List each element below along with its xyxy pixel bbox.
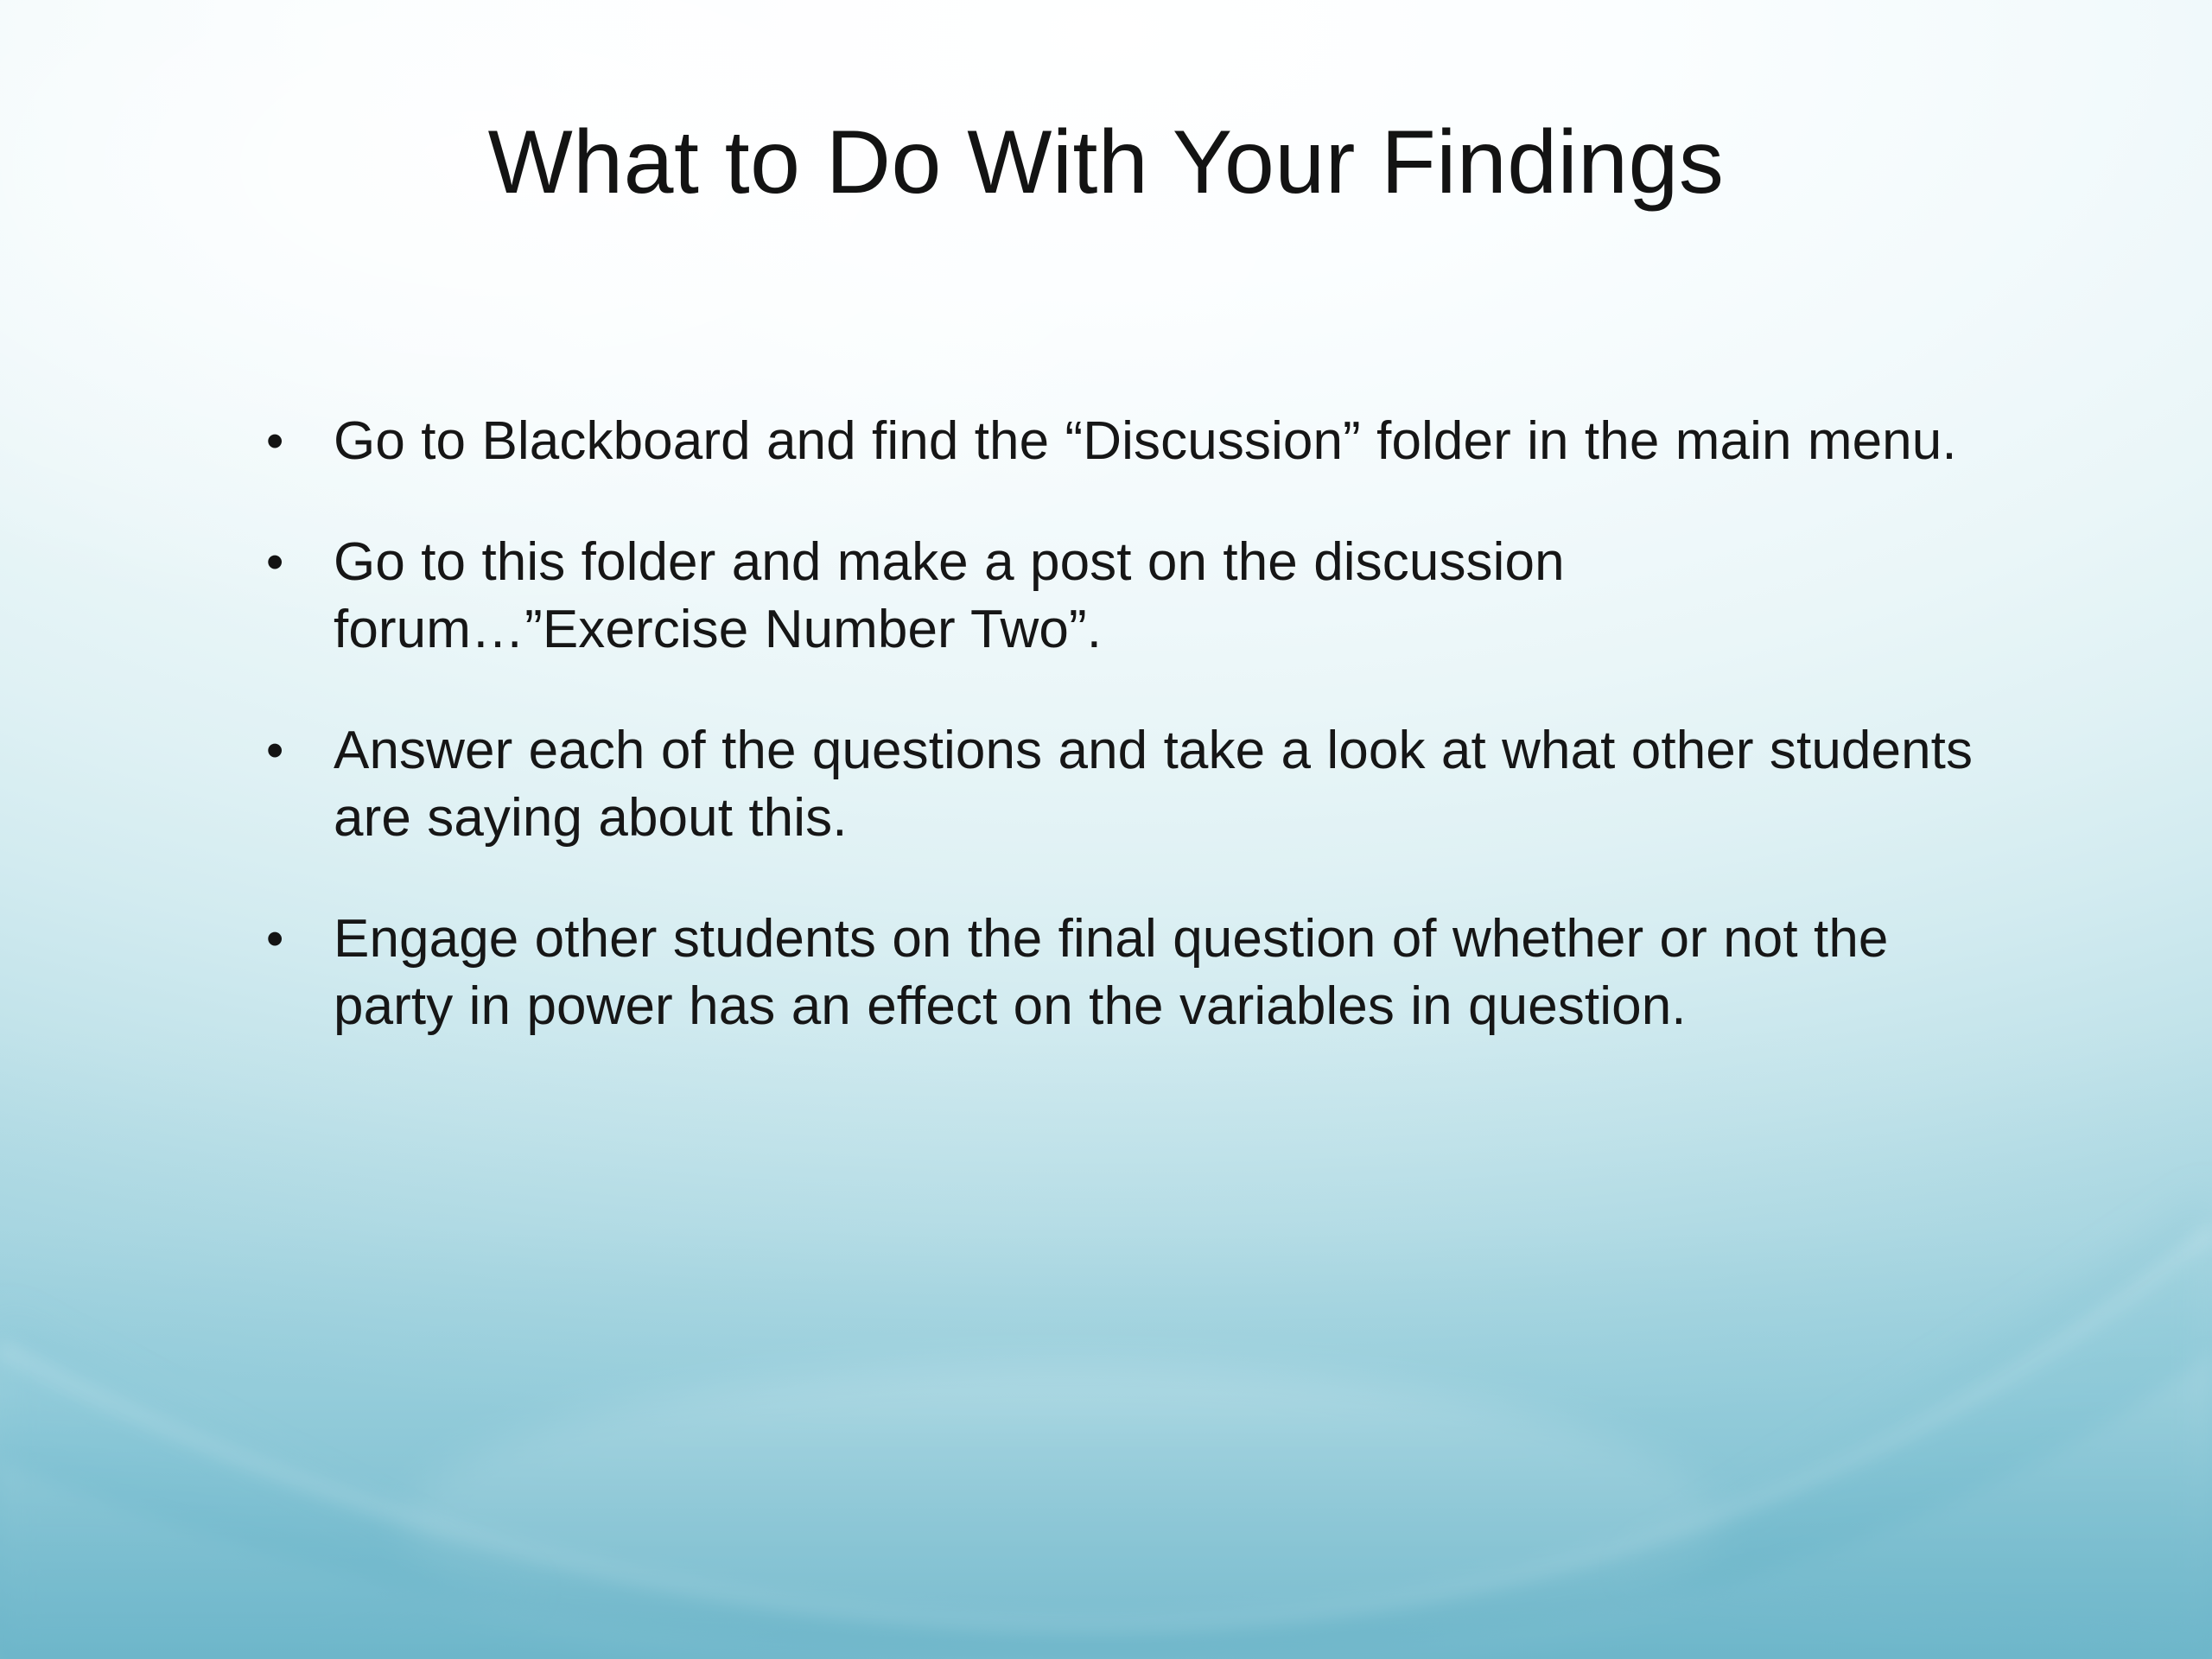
bullet-item: • Go to Blackboard and find the “Discuss… — [256, 408, 1975, 475]
bullet-text: Engage other students on the final quest… — [334, 906, 1975, 1040]
bullet-text: Go to this folder and make a post on the… — [334, 529, 1975, 664]
slide-title: What to Do With Your Findings — [0, 111, 2212, 215]
bullet-marker-icon: • — [256, 529, 334, 596]
slide-content: What to Do With Your Findings • Go to Bl… — [0, 0, 2212, 1659]
bullet-item: • Go to this folder and make a post on t… — [256, 529, 1975, 664]
presentation-slide: What to Do With Your Findings • Go to Bl… — [0, 0, 2212, 1659]
bullet-marker-icon: • — [256, 906, 334, 973]
bullet-text: Answer each of the questions and take a … — [334, 717, 1975, 852]
bullet-marker-icon: • — [256, 408, 334, 475]
bullet-item: • Answer each of the questions and take … — [256, 717, 1975, 852]
bullet-marker-icon: • — [256, 717, 334, 785]
bullet-item: • Engage other students on the final que… — [256, 906, 1975, 1040]
bullet-text: Go to Blackboard and find the “Discussio… — [334, 408, 1975, 475]
slide-body-bullet-list: • Go to Blackboard and find the “Discuss… — [256, 408, 1975, 1040]
